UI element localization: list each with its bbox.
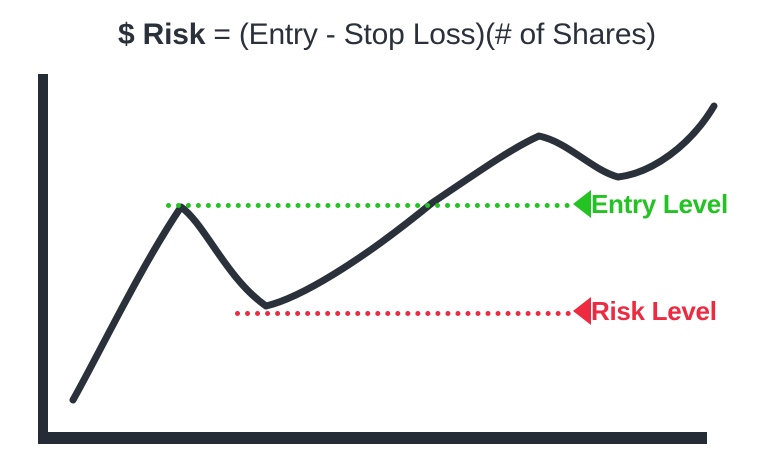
risk-level-line [235,311,571,316]
price-curve-path [73,106,714,400]
risk-level-legend: Risk Level [573,297,717,325]
left-triangle-arrow-icon [573,190,591,218]
risk-level-label: Risk Level [591,298,717,324]
entry-level-legend: Entry Level [573,190,728,218]
entry-level-label: Entry Level [591,191,728,217]
price-curve [0,0,774,459]
left-triangle-arrow-icon [573,297,591,325]
risk-formula-chart-figure: $ Risk = (Entry - Stop Loss)(# of Shares… [0,0,774,459]
entry-level-line [166,203,570,208]
